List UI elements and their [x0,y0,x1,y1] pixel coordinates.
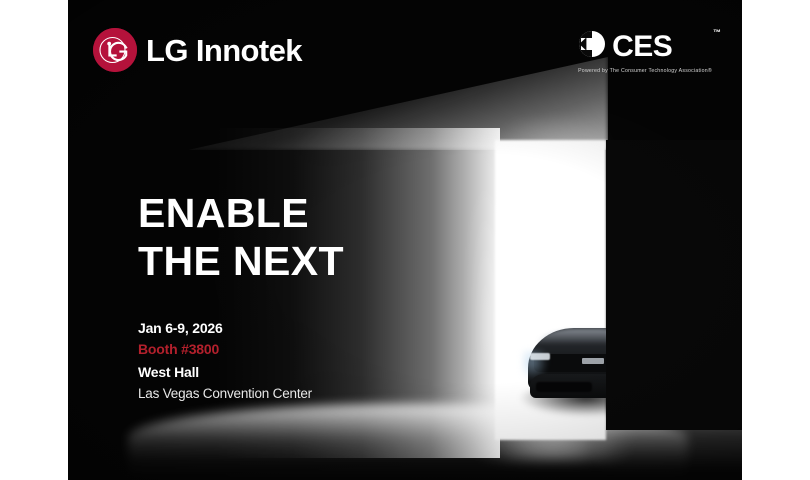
ces-logo-row: CES ™ [578,30,712,63]
ces-wordmark: CES [612,32,672,62]
event-details: Jan 6-9, 2026 Booth #3800 West Hall Las … [138,318,312,404]
door-panel [606,140,742,430]
page-title: ENABLE THE NEXT [138,190,344,285]
vehicle-air-intake [536,382,592,392]
ces-circle-mark-icon [578,30,606,63]
event-hall: West Hall [138,362,312,383]
vehicle-headlight [530,353,550,360]
event-date: Jan 6-9, 2026 [138,318,312,339]
vehicle-badge [582,358,604,364]
lg-face-logo-icon [93,28,137,72]
event-venue: Las Vegas Convention Center [138,384,312,404]
ces-trademark: ™ [713,28,721,37]
ces-tagline: Powered by The Consumer Technology Assoc… [578,68,712,74]
key-visual-artwork: LG Innotek CES ™ Powered by The Consumer… [68,0,742,480]
lg-innotek-logo: LG Innotek [93,28,302,72]
poster-canvas: LG Innotek CES ™ Powered by The Consumer… [0,0,810,480]
lg-innotek-wordmark: LG Innotek [146,35,302,66]
booth-number: Booth #3800 [138,339,312,360]
ces-logo: CES ™ Powered by The Consumer Technology… [578,30,712,74]
